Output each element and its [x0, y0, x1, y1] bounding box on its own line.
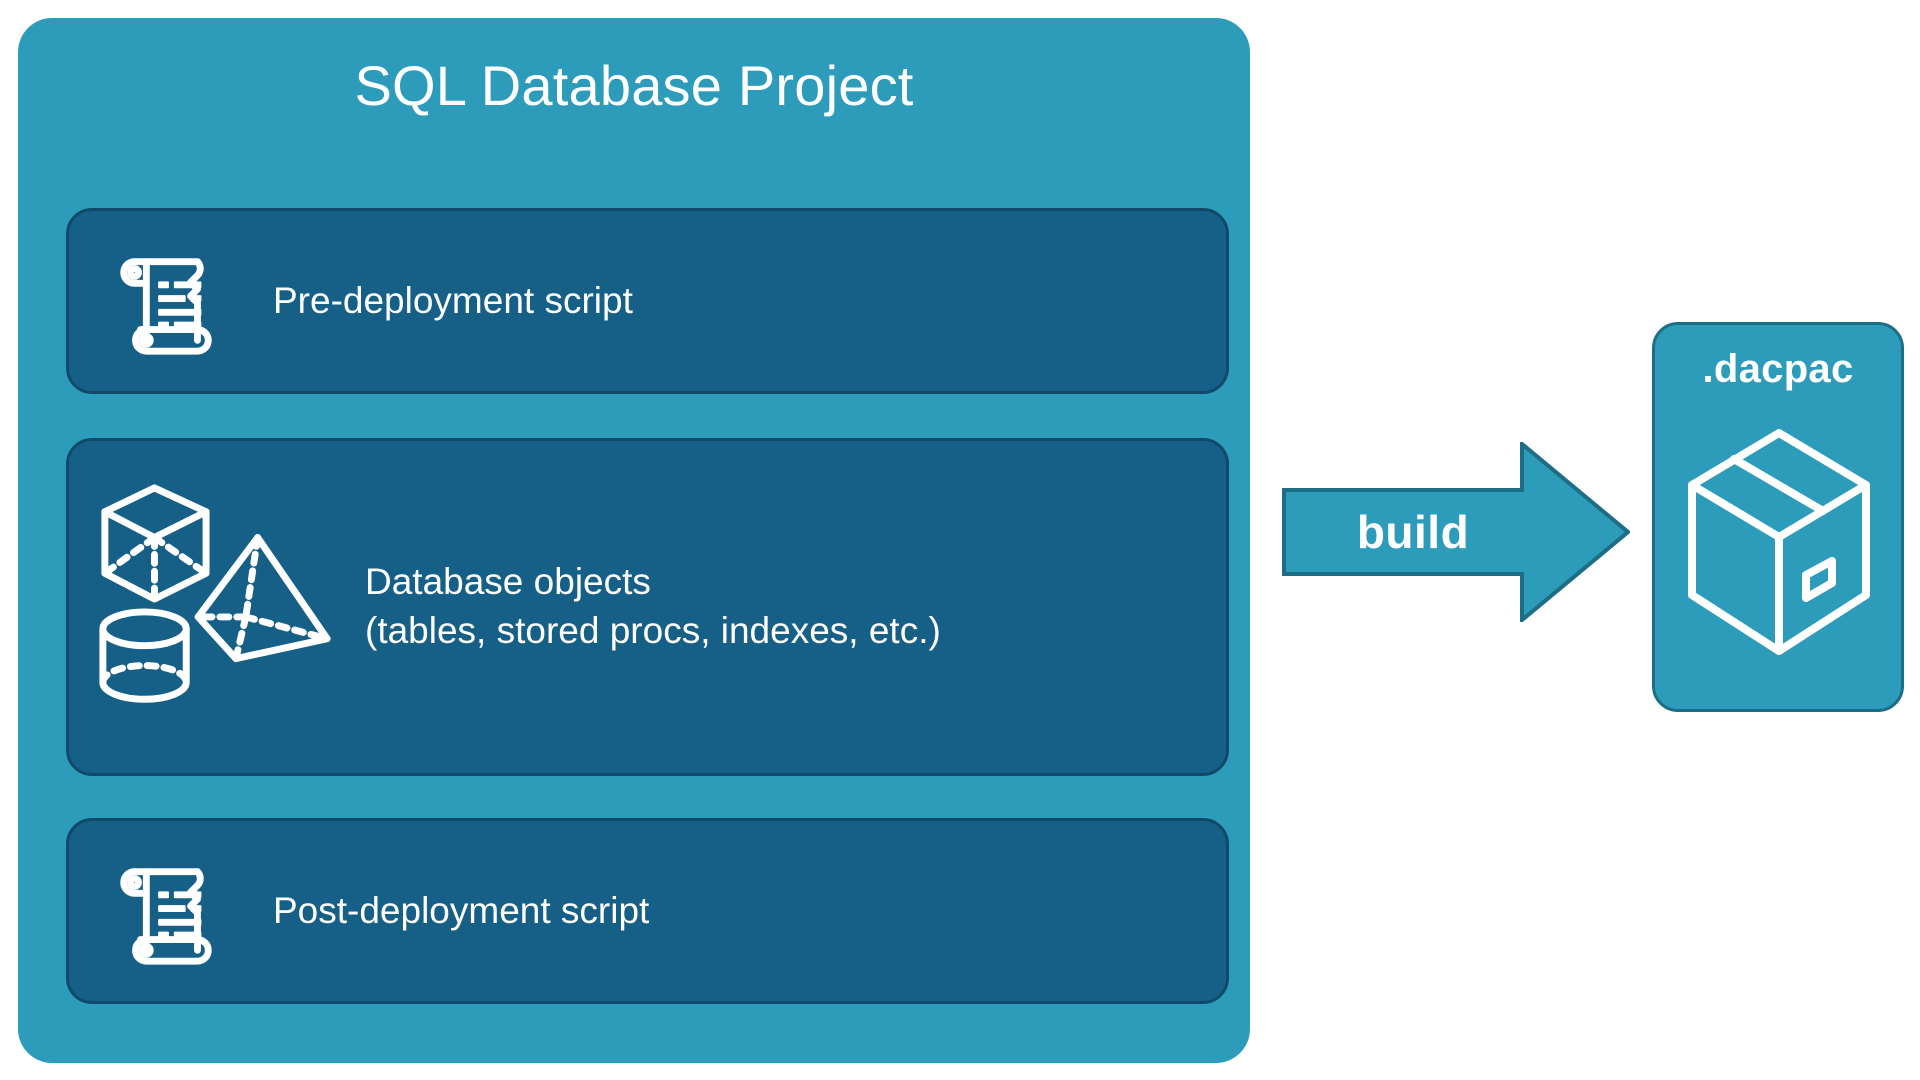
- scroll-icon: [85, 852, 247, 970]
- package-box-icon: [1684, 417, 1874, 667]
- card-pre-deployment-script[interactable]: Pre-deployment script: [66, 208, 1229, 394]
- arrow-right-icon: [1282, 442, 1630, 622]
- card-pre-deployment-label: Pre-deployment script: [273, 277, 633, 326]
- dacpac-title: .dacpac: [1655, 347, 1901, 392]
- card-post-deployment-script[interactable]: Post-deployment script: [66, 818, 1229, 1004]
- sql-database-project-container: SQL Database Project: [18, 18, 1250, 1063]
- diagram-canvas: SQL Database Project: [0, 0, 1920, 1080]
- scroll-icon: [85, 242, 247, 360]
- project-title: SQL Database Project: [18, 54, 1250, 118]
- card-database-objects[interactable]: Database objects (tables, stored procs, …: [66, 438, 1229, 776]
- card-database-objects-label: Database objects (tables, stored procs, …: [365, 558, 941, 656]
- card-post-deployment-label: Post-deployment script: [273, 887, 649, 936]
- shapes-icon: [81, 478, 351, 736]
- dacpac-output-box[interactable]: .dacpac: [1652, 322, 1904, 712]
